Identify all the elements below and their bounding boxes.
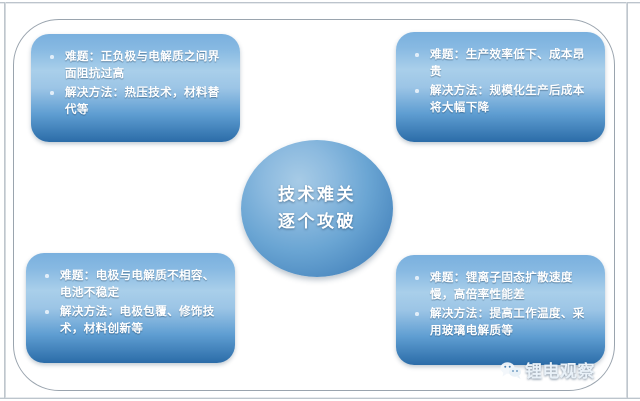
list-item: 难题：电极与电解质不相容、电池不稳定 [38, 267, 222, 301]
hub-title-line-2: 逐个攻破 [278, 209, 356, 236]
center-hub-circle[interactable]: 技术难关 逐个攻破 [241, 140, 393, 277]
node-top-right-bullets: 难题：生产效率低下、成本昂贵 解决方法：规模化生产后成本将大幅下降 [408, 46, 592, 116]
watermark-text: 锂电观察 [525, 357, 595, 382]
wechat-icon [500, 361, 522, 379]
node-top-right[interactable]: 难题：生产效率低下、成本昂贵 解决方法：规模化生产后成本将大幅下降 [396, 32, 605, 142]
bottom-divider [0, 397, 640, 399]
node-bottom-left-bullets: 难题：电极与电解质不相容、电池不稳定 解决方法：电极包覆、修饰技术，材料创新等 [38, 267, 222, 337]
watermark: 锂电观察 [500, 357, 595, 382]
node-bottom-right[interactable]: 难题：锂离子固态扩散速度慢，高倍率性能差 解决方法：提高工作温度、采用玻璃电解质… [396, 255, 605, 365]
list-item: 难题：生产效率低下、成本昂贵 [408, 46, 592, 80]
list-item: 难题：锂离子固态扩散速度慢，高倍率性能差 [408, 269, 592, 303]
list-item: 解决方法：热压技术，材料替代等 [43, 84, 227, 118]
top-divider [0, 2, 640, 4]
list-item: 难题：正负极与电解质之间界面阻抗过高 [43, 48, 227, 82]
left-edge-line [4, 2, 6, 398]
diagram-canvas: 难题：正负极与电解质之间界面阻抗过高 解决方法：热压技术，材料替代等 难题：生产… [0, 0, 640, 401]
node-top-left-bullets: 难题：正负极与电解质之间界面阻抗过高 解决方法：热压技术，材料替代等 [43, 48, 227, 118]
hub-title-line-1: 技术难关 [278, 182, 356, 209]
node-bottom-right-bullets: 难题：锂离子固态扩散速度慢，高倍率性能差 解决方法：提高工作温度、采用玻璃电解质… [408, 269, 592, 339]
list-item: 解决方法：电极包覆、修饰技术，材料创新等 [38, 303, 222, 337]
node-bottom-left[interactable]: 难题：电极与电解质不相容、电池不稳定 解决方法：电极包覆、修饰技术，材料创新等 [26, 253, 235, 363]
list-item: 解决方法：提高工作温度、采用玻璃电解质等 [408, 305, 592, 339]
node-top-left[interactable]: 难题：正负极与电解质之间界面阻抗过高 解决方法：热压技术，材料替代等 [31, 34, 240, 142]
right-edge-line [626, 2, 628, 398]
list-item: 解决方法：规模化生产后成本将大幅下降 [408, 82, 592, 116]
